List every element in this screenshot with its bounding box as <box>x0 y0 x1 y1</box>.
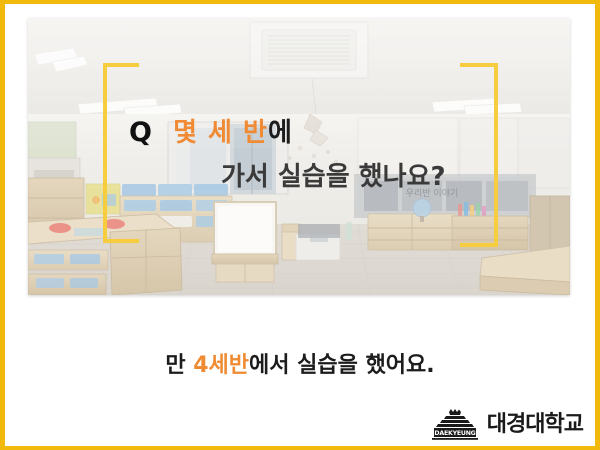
slide-inner-panel: 우리반 이야기 <box>5 4 595 446</box>
university-name: 대경대학교 <box>487 414 583 436</box>
question-line-2-text: 가서 실습을 했나요? <box>221 162 446 192</box>
answer-suffix: 에서 실습을 했어요. <box>249 353 435 378</box>
question-highlight: 몇 세 반 <box>173 118 268 148</box>
answer-caption: 만 4세반에서 실습을 했어요. <box>5 347 595 379</box>
university-logo: DAEKYEUNG 대경대학교 <box>429 408 583 442</box>
slide-root: 우리반 이야기 <box>0 0 600 450</box>
question-line-2: 가서 실습을 했나요? <box>221 164 446 190</box>
daekyeung-emblem-icon: DAEKYEUNG <box>429 408 481 442</box>
answer-highlight: 4세반 <box>193 353 249 378</box>
kindergarten-classroom-photo: 우리반 이야기 <box>28 18 570 295</box>
emblem-wordmark: DAEKYEUNG <box>434 430 475 437</box>
question-line-1-tail: 에 <box>268 118 293 148</box>
classroom-photo-illustration: 우리반 이야기 <box>28 18 570 295</box>
question-marker: Q <box>129 117 153 148</box>
answer-prefix: 만 <box>165 353 193 378</box>
question-line-1: Q 몇 세 반에 <box>129 119 293 146</box>
